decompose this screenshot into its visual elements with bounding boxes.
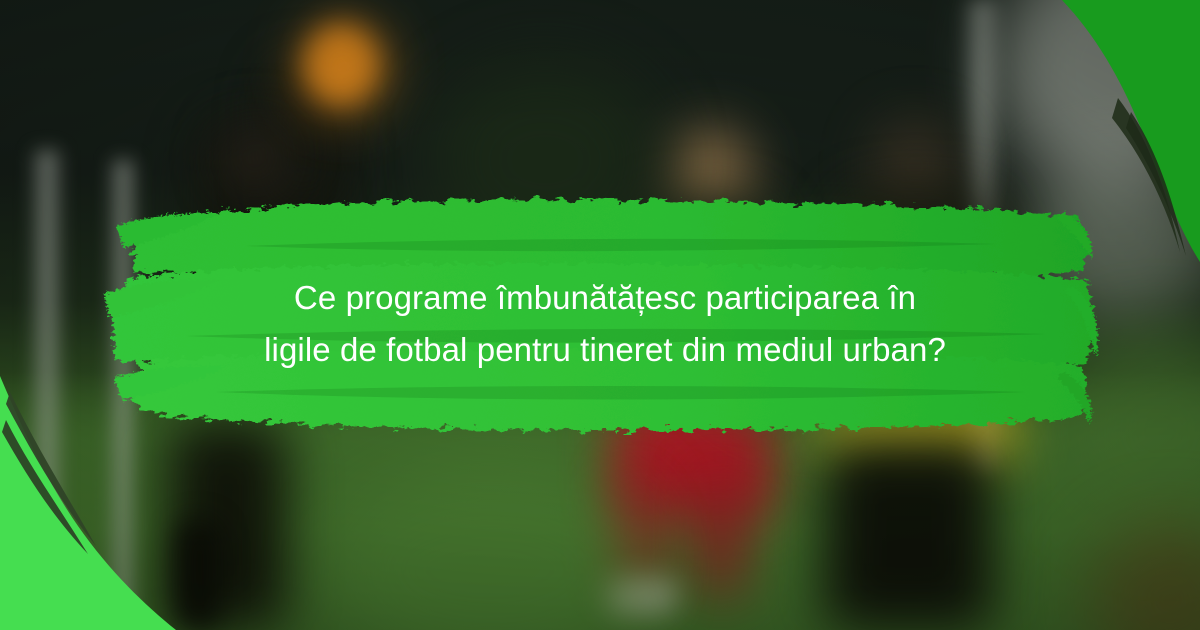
social-share-card: Ce programe îmbunătățesc participarea în… xyxy=(0,0,1200,630)
headline-text: Ce programe îmbunătățesc participarea în… xyxy=(140,272,1070,376)
